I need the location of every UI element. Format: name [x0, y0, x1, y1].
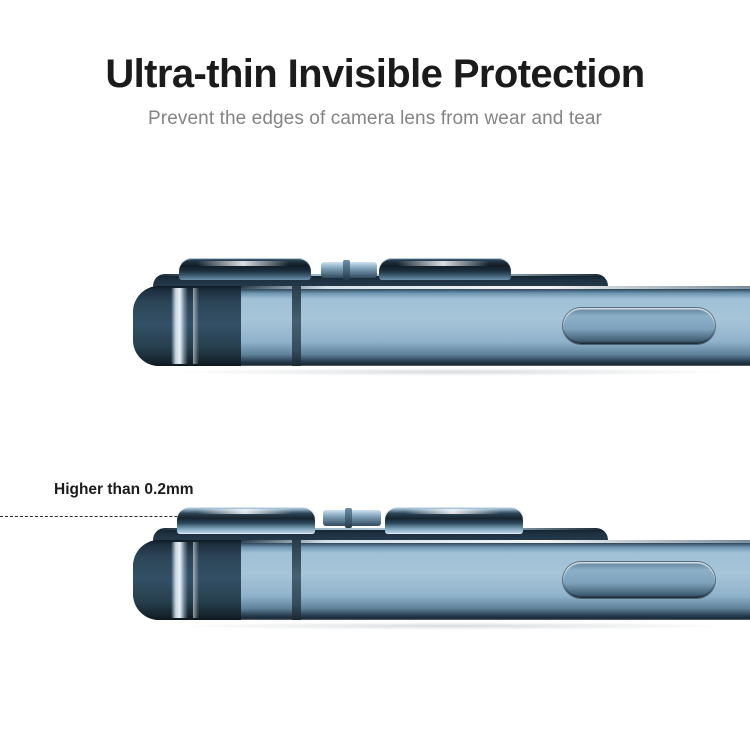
page-subtitle: Prevent the edges of camera lens from we…: [0, 108, 750, 130]
sensor-nub: [343, 260, 350, 280]
frame-top-highlight: [233, 286, 750, 289]
measurement-dashed-line: [0, 516, 272, 517]
endcap-specular-highlight-secondary: [193, 288, 199, 364]
phone-drop-shadow: [173, 622, 733, 630]
product-feature-graphic: Ultra-thin Invisible Protection Prevent …: [0, 0, 750, 750]
measurement-label: Higher than 0.2mm: [54, 481, 194, 499]
lens-protector-ring-right: [385, 506, 523, 534]
lens-protector-ring-left: [177, 506, 315, 534]
camera-lens-ring-right: [379, 258, 511, 280]
antenna-band: [292, 540, 301, 620]
phone-drop-shadow: [173, 368, 733, 376]
camera-lens-ring-left: [179, 258, 311, 280]
power-button: [563, 562, 715, 598]
phone-illustration-with-protector: [133, 506, 750, 636]
flash-module: [323, 510, 381, 526]
lens-highlight: [197, 261, 289, 266]
sensor-nub: [345, 508, 352, 528]
endcap-specular-highlight: [171, 542, 188, 618]
endcap-specular-highlight-secondary: [193, 542, 199, 618]
antenna-band: [292, 286, 301, 366]
page-title: Ultra-thin Invisible Protection: [0, 52, 750, 97]
endcap-specular-highlight: [171, 288, 188, 364]
frame-top-highlight: [233, 540, 750, 543]
phone-illustration-without-protector: [133, 252, 750, 382]
lens-highlight: [197, 509, 293, 514]
lens-highlight: [405, 509, 501, 514]
power-button: [563, 308, 715, 344]
lens-highlight: [397, 261, 489, 266]
